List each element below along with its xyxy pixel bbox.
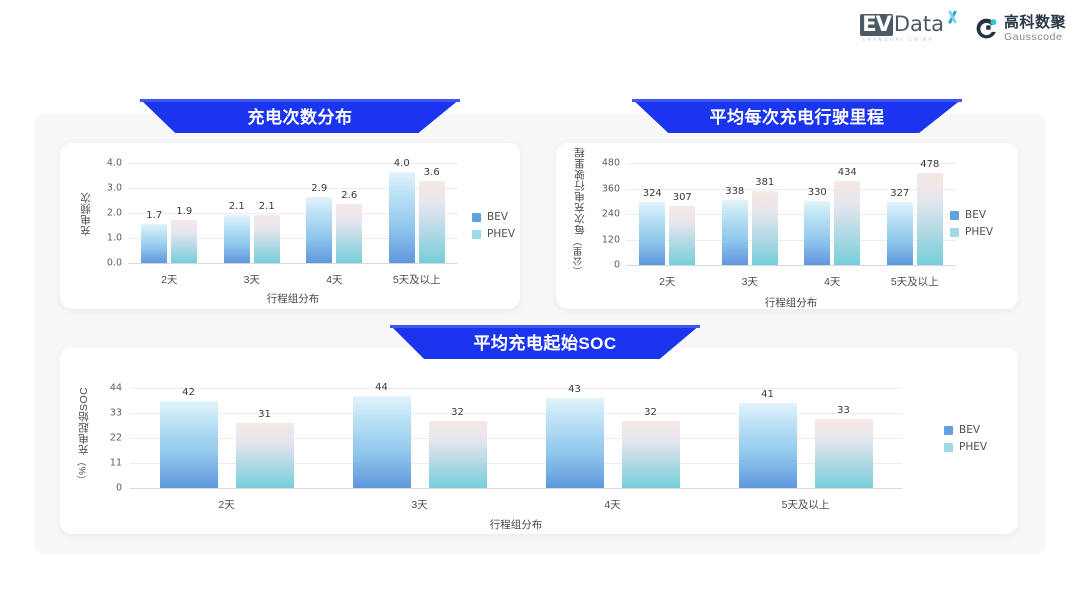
legend-swatch-phev [944, 443, 953, 452]
y-axis-tick: 2.0 [82, 208, 122, 219]
bar-value-label: 2.1 [229, 201, 245, 212]
bar-value-label: 330 [808, 187, 827, 198]
bar-phev-0 [171, 220, 197, 263]
y-axis-tick: 0.0 [82, 258, 122, 269]
gridline [626, 163, 956, 164]
evdata-tagline: SHANGHAI CHINA [862, 38, 934, 43]
x-axis-title-charging-frequency: 行程组分布 [267, 291, 320, 306]
legend-item-bev[interactable]: BEV [950, 209, 993, 221]
x-axis-tick-label: 2天 [659, 274, 675, 289]
bar-bev-2 [546, 398, 604, 488]
y-axis-tick: 240 [580, 209, 620, 220]
evdata-logo: EV Data SHANGHAI CHINA [860, 14, 959, 43]
bar-value-label: 32 [644, 407, 657, 418]
bar-phev-3 [815, 419, 873, 488]
gridline [130, 388, 902, 389]
gridline [130, 488, 902, 489]
y-axis-label-line1: 充电起始SOC [76, 387, 91, 455]
bar-bev-3 [389, 172, 415, 263]
legend-item-phev[interactable]: PHEV [472, 228, 515, 240]
y-axis-tick: 0 [82, 483, 122, 494]
legend-avg-distance-per-charge: BEVPHEV [950, 209, 993, 238]
x-axis-tick-label: 5天及以上 [891, 274, 939, 289]
gridline [128, 263, 458, 264]
legend-avg-start-soc: BEVPHEV [944, 424, 987, 453]
evdata-ev-text: EV [860, 14, 893, 36]
bar-value-label: 324 [643, 188, 662, 199]
evdata-data-text: Data [894, 14, 944, 35]
x-axis-tick-label: 3天 [742, 274, 758, 289]
legend-item-bev[interactable]: BEV [944, 424, 987, 436]
bar-bev-0 [141, 224, 167, 263]
bar-value-label: 2.6 [341, 190, 357, 201]
legend-item-bev[interactable]: BEV [472, 211, 515, 223]
legend-swatch-bev [950, 211, 959, 220]
x-axis-tick-label: 4天 [824, 274, 840, 289]
bar-bev-1 [353, 396, 411, 488]
bar-value-label: 4.0 [394, 158, 410, 169]
chart-title-banner-1: 充电次数分布 [140, 99, 460, 133]
legend-swatch-phev [472, 230, 481, 239]
x-axis-tick-label: 5天及以上 [782, 497, 830, 512]
bar-value-label: 43 [568, 384, 581, 395]
bar-value-label: 31 [258, 409, 271, 420]
legend-label: BEV [487, 211, 508, 223]
x-axis-title-avg-start-soc: 行程组分布 [490, 517, 543, 532]
bar-phev-0 [236, 423, 294, 488]
bar-phev-2 [622, 421, 680, 488]
x-axis-tick-label: 3天 [244, 272, 260, 287]
legend-swatch-bev [472, 213, 481, 222]
legend-label: BEV [965, 209, 986, 221]
legend-label: PHEV [487, 228, 515, 240]
bar-bev-0 [160, 401, 218, 489]
y-axis-tick: 33 [82, 408, 122, 419]
bar-value-label: 42 [182, 387, 195, 398]
legend-swatch-phev [950, 228, 959, 237]
brand-logo-bar: EV Data SHANGHAI CHINA 高科数聚 Gausscode [860, 14, 1066, 43]
slide-root: EV Data SHANGHAI CHINA 高科数聚 Gausscode [0, 0, 1080, 608]
bar-phev-2 [336, 204, 362, 263]
y-axis-tick: 44 [82, 383, 122, 394]
y-axis-tick: 3.0 [82, 183, 122, 194]
y-axis-tick: 11 [82, 458, 122, 469]
chart-title-1: 充电次数分布 [140, 99, 460, 133]
y-axis-tick: 4.0 [82, 158, 122, 169]
bar-phev-1 [254, 215, 280, 263]
gridline [626, 265, 956, 266]
bar-value-label: 1.9 [176, 206, 192, 217]
gausscode-logo: 高科数聚 Gausscode [975, 15, 1066, 43]
bar-phev-2 [834, 181, 860, 265]
bar-bev-2 [804, 201, 830, 265]
x-axis-title-avg-distance-per-charge: 行程组分布 [765, 295, 818, 310]
x-axis-tick-label: 4天 [326, 272, 342, 287]
gausscode-mark-icon [975, 17, 998, 40]
legend-label: PHEV [959, 441, 987, 453]
bar-value-label: 307 [673, 192, 692, 203]
evdata-x-icon [945, 10, 959, 24]
bar-phev-1 [429, 421, 487, 488]
bar-phev-1 [752, 191, 778, 265]
bar-bev-2 [306, 197, 332, 263]
legend-label: BEV [959, 424, 980, 436]
bar-phev-3 [419, 181, 445, 263]
legend-swatch-bev [944, 426, 953, 435]
legend-label: PHEV [965, 226, 993, 238]
chart-title-banner-2: 平均每次充电行驶里程 [632, 99, 962, 133]
y-axis-tick: 120 [580, 234, 620, 245]
bar-value-label: 338 [725, 186, 744, 197]
bar-value-label: 2.1 [259, 201, 275, 212]
y-axis-tick: 1.0 [82, 233, 122, 244]
bar-value-label: 1.7 [146, 210, 162, 221]
bar-value-label: 32 [451, 407, 464, 418]
evdata-wordmark: EV Data [860, 14, 959, 36]
chart-title-banner-3: 平均充电起始SOC [390, 325, 700, 359]
x-axis-tick-label: 3天 [411, 497, 427, 512]
legend-item-phev[interactable]: PHEV [944, 441, 987, 453]
bar-value-label: 44 [375, 382, 388, 393]
legend-charging-frequency: BEVPHEV [472, 211, 515, 240]
bar-value-label: 2.9 [311, 183, 327, 194]
bar-value-label: 33 [837, 405, 850, 416]
gausscode-text: 高科数聚 Gausscode [1004, 15, 1066, 43]
chart-card-avg-distance [556, 143, 1018, 309]
y-axis-tick: 22 [82, 433, 122, 444]
x-axis-tick-label: 2天 [161, 272, 177, 287]
bar-value-label: 3.6 [424, 167, 440, 178]
bar-bev-3 [739, 403, 797, 488]
chart-title-2: 平均每次充电行驶里程 [632, 99, 962, 133]
gausscode-en-name: Gausscode [1004, 32, 1066, 43]
x-axis-tick-label: 2天 [218, 497, 234, 512]
bar-phev-0 [669, 206, 695, 265]
chart-card-charging-frequency [60, 143, 520, 309]
x-axis-tick-label: 4天 [604, 497, 620, 512]
bar-value-label: 327 [890, 188, 909, 199]
y-axis-tick: 0 [580, 260, 620, 271]
chart-title-3: 平均充电起始SOC [390, 325, 700, 359]
bar-bev-0 [639, 202, 665, 265]
bar-bev-1 [722, 200, 748, 265]
y-axis-tick: 480 [580, 158, 620, 169]
bar-value-label: 381 [755, 177, 774, 188]
y-axis-tick: 360 [580, 183, 620, 194]
legend-item-phev[interactable]: PHEV [950, 226, 993, 238]
bar-value-label: 478 [920, 159, 939, 170]
bar-value-label: 434 [838, 167, 857, 178]
bar-phev-3 [917, 173, 943, 265]
x-axis-tick-label: 5天及以上 [393, 272, 441, 287]
bar-value-label: 41 [761, 389, 774, 400]
bar-bev-1 [224, 215, 250, 263]
gausscode-cn-name: 高科数聚 [1004, 15, 1066, 30]
bar-bev-3 [887, 202, 913, 265]
